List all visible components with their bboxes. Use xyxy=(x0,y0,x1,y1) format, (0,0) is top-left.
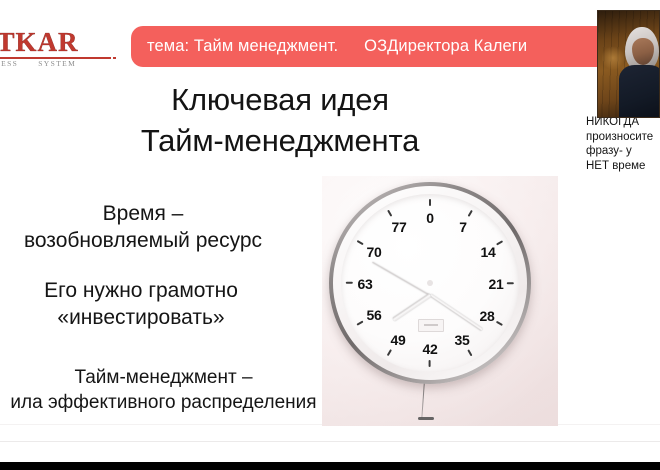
clock-photo: 0 7 14 21 28 35 42 49 56 63 70 77 xyxy=(322,176,558,426)
brand-tagline-system: SYSTEM xyxy=(38,59,76,68)
slide-text-invest: Его нужно грамотно «инвестировать» xyxy=(0,277,296,332)
clock-numeral-63: 63 xyxy=(358,276,373,292)
bottom-letterbox-bar xyxy=(0,462,660,470)
clock-hour-hand xyxy=(392,293,431,321)
participant-torso xyxy=(619,65,660,118)
clock-center-cap xyxy=(427,280,433,286)
slide-heading-line-1: Ключевая идея xyxy=(0,79,560,120)
slide-heading-line-2: Тайм-менеджмента xyxy=(0,120,560,161)
clock-numeral-49: 49 xyxy=(391,332,406,348)
clock-numeral-42: 42 xyxy=(423,341,438,357)
side-note-line-3: фразу- у xyxy=(586,144,660,159)
clock-numeral-0: 0 xyxy=(426,210,434,226)
clock-numeral-70: 70 xyxy=(367,244,382,260)
clock-numeral-56: 56 xyxy=(367,307,382,323)
clock-tick xyxy=(496,240,503,245)
clock-tick xyxy=(468,210,473,217)
clock-numeral-14: 14 xyxy=(481,244,496,260)
webcam-overlay[interactable] xyxy=(597,10,660,118)
rule-line-2: ила эффективного распределения xyxy=(0,391,341,416)
clock-face: 0 7 14 21 28 35 42 49 56 63 70 77 xyxy=(341,194,519,372)
resource-line-1: Время – xyxy=(0,200,298,227)
topic-banner: тема: Тайм менеджмент.ОЗДиректора Калеги xyxy=(131,26,637,67)
clock-numeral-35: 35 xyxy=(455,332,470,348)
side-note-line-2: произносите xyxy=(586,130,660,145)
webcam-participant xyxy=(619,27,660,118)
brand-tagline-business: USINESS xyxy=(0,59,18,68)
invest-line-1: Его нужно грамотно xyxy=(0,277,296,304)
brand-logo: NTKAR USINESSSYSTEM xyxy=(0,27,126,71)
clock-tick xyxy=(429,360,431,367)
clock-numeral-7: 7 xyxy=(459,219,467,235)
brand-wordmark: NTKAR xyxy=(0,29,79,56)
invest-line-2: «инвестировать» xyxy=(0,304,296,331)
slide-heading: Ключевая идея Тайм-менеджмента xyxy=(0,79,560,161)
clock-tick xyxy=(387,349,392,356)
clock-date-window xyxy=(418,319,444,332)
wall-clock: 0 7 14 21 28 35 42 49 56 63 70 77 xyxy=(329,182,531,384)
clock-second-hand xyxy=(373,261,431,295)
clock-tick xyxy=(468,349,473,356)
clock-tick xyxy=(387,210,392,217)
resource-line-2: возобновляемый ресурс xyxy=(0,227,298,254)
clock-cord-end xyxy=(418,417,434,420)
rule-line-1: Тайм-менеджмент – xyxy=(0,366,341,391)
presenter-label: ОЗДиректора Калеги xyxy=(364,37,527,55)
brand-tagline: USINESSSYSTEM xyxy=(0,59,124,68)
screen-capture: NTKAR USINESSSYSTEM тема: Тайм менеджмен… xyxy=(0,0,660,470)
topic-banner-text: тема: Тайм менеджмент.ОЗДиректора Калеги xyxy=(131,37,527,56)
slide-text-rule: Тайм-менеджмент – ила эффективного распр… xyxy=(0,366,341,415)
clock-numeral-77: 77 xyxy=(392,219,407,235)
clock-tick xyxy=(346,282,353,284)
topic-label: тема: Тайм менеджмент. xyxy=(147,37,338,55)
side-note-text: НИКОГДА произносите фразу- у НЕТ време xyxy=(586,115,660,174)
clock-numeral-21: 21 xyxy=(489,276,504,292)
presentation-slide: NTKAR USINESSSYSTEM тема: Тайм менеджмен… xyxy=(0,0,660,462)
clock-tick xyxy=(496,321,503,326)
slide-text-resource: Время – возобновляемый ресурс xyxy=(0,200,298,255)
side-note-line-4: НЕТ време xyxy=(586,159,660,174)
slide-edge-lower xyxy=(0,441,660,442)
clock-tick xyxy=(357,240,364,245)
clock-tick xyxy=(507,282,514,284)
clock-tick xyxy=(357,321,364,326)
clock-numeral-28: 28 xyxy=(480,308,495,324)
clock-tick xyxy=(429,199,431,206)
